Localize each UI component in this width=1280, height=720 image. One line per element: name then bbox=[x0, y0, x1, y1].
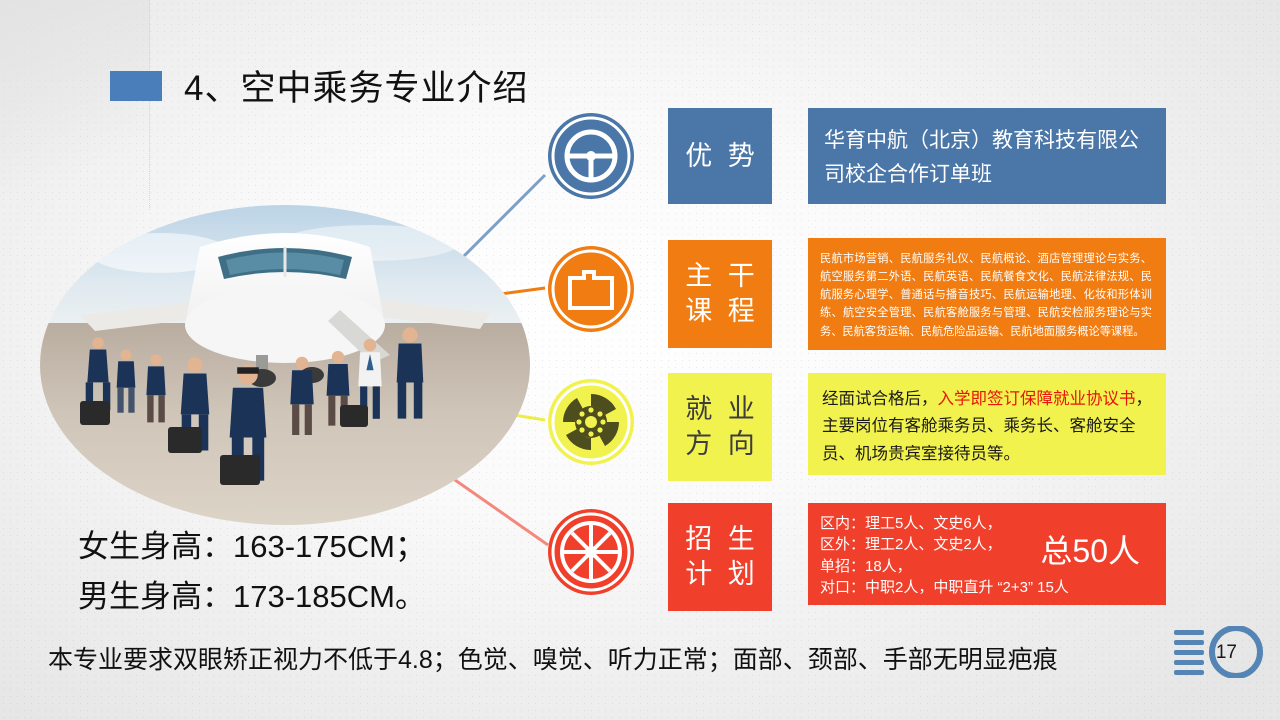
page-number: 17 bbox=[1216, 642, 1237, 664]
employment-text-before: 经面试合格后， bbox=[822, 390, 938, 408]
plan-total: 总50人 bbox=[1040, 529, 1140, 574]
label-core-courses: 主 干 课 程 bbox=[668, 240, 772, 348]
label-line: 方 向 bbox=[681, 427, 759, 462]
brake-disc-icon bbox=[545, 376, 637, 468]
advantage-text: 华育中航（北京）教育科技有限公司校企合作订单班 bbox=[824, 129, 1139, 186]
footer-note: 本专业要求双眼矫正视力不低于4.8；色觉、嗅觉、听力正常；面部、颈部、手部无明显… bbox=[48, 640, 1058, 676]
label-line: 优 势 bbox=[681, 139, 759, 174]
folder-icon bbox=[545, 243, 637, 335]
page-title: 4、空中乘务专业介绍 bbox=[184, 60, 528, 111]
label-advantage: 优 势 bbox=[668, 108, 772, 204]
title-bullet-square bbox=[110, 71, 162, 101]
label-line: 主 干 bbox=[681, 259, 759, 294]
height-requirements: 女生身高：163-175CM； 男生身高：173-185CM。 bbox=[78, 522, 426, 622]
label-line: 课 程 bbox=[681, 294, 759, 329]
male-height-text: 男生身高：173-185CM。 bbox=[78, 572, 426, 622]
content-employment: 经面试合格后，入学即签订保障就业协议书，主要岗位有客舱乘务员、乘务长、客舱安全员… bbox=[808, 373, 1166, 475]
label-line: 招 生 bbox=[681, 522, 759, 557]
employment-text-highlight: 入学即签订保障就业协议书 bbox=[938, 390, 1136, 408]
label-employment: 就 业 方 向 bbox=[668, 373, 772, 481]
spoked-wheel-icon bbox=[545, 506, 637, 598]
plan-line: 对口：中职2人，中职直升 “2+3” 15人 bbox=[820, 577, 1154, 598]
label-line: 计 划 bbox=[681, 557, 759, 592]
label-enrollment-plan: 招 生 计 划 bbox=[668, 503, 772, 611]
crew-photo-image bbox=[40, 205, 530, 525]
slide-title-row: 4、空中乘务专业介绍 bbox=[110, 60, 528, 111]
label-line: 就 业 bbox=[681, 392, 759, 427]
crew-photo bbox=[40, 205, 530, 525]
content-core-courses: 民航市场营销、民航服务礼仪、民航概论、酒店管理理论与实务、航空服务第二外语、民航… bbox=[808, 238, 1166, 350]
steering-wheel-icon bbox=[545, 110, 637, 202]
content-enrollment-plan: 区内：理工5人、文史6人， 区外：理工2人、文史2人， 单招：18人， 对口：中… bbox=[808, 503, 1166, 605]
female-height-text: 女生身高：163-175CM； bbox=[78, 522, 426, 572]
core-courses-text: 民航市场营销、民航服务礼仪、民航概论、酒店管理理论与实务、航空服务第二外语、民航… bbox=[820, 253, 1152, 338]
content-advantage: 华育中航（北京）教育科技有限公司校企合作订单班 bbox=[808, 108, 1166, 204]
